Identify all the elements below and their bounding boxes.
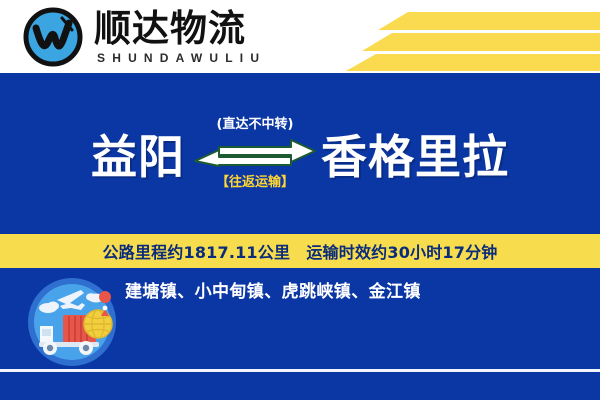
destination-city: 香格里拉: [321, 121, 509, 187]
diagonal-stripes-decoration: [310, 0, 600, 73]
header-bar: 顺达物流 SHUNDAWULIU: [0, 0, 600, 73]
swoosh-circle-logo-icon: [22, 6, 84, 68]
bottom-divider: [0, 369, 600, 372]
direct-service-note: (直达不中转): [217, 118, 294, 131]
coverage-towns-list: 建塘镇、小中甸镇、虎跳峡镇、金江镇: [125, 277, 545, 302]
origin-city: 益阳: [91, 121, 185, 187]
logistics-route-poster: 顺达物流 SHUNDAWULIU 益阳 (直达不中转): [0, 0, 600, 400]
distance-duration-bar: 公路里程约1817.11公里 运输时效约30小时17分钟: [0, 234, 600, 268]
brand-logo-group: 顺达物流 SHUNDAWULIU: [22, 6, 266, 68]
double-headed-exchange-arrow-icon: [191, 137, 319, 169]
distance-duration-text: 公路里程约1817.11公里 运输时效约30小时17分钟: [102, 239, 497, 263]
logistics-truck-plane-globe-icon: [26, 276, 118, 368]
brand-text-group: 顺达物流 SHUNDAWULIU: [94, 9, 266, 64]
brand-name-en: SHUNDAWULIU: [97, 51, 266, 65]
route-row: 益阳 (直达不中转) 【往返运输】 香格里拉: [0, 73, 600, 234]
round-trip-badge: 【往返运输】: [216, 176, 294, 189]
route-arrow-group: (直达不中转) 【往返运输】: [191, 106, 319, 202]
brand-name-cn: 顺达物流: [94, 9, 266, 48]
